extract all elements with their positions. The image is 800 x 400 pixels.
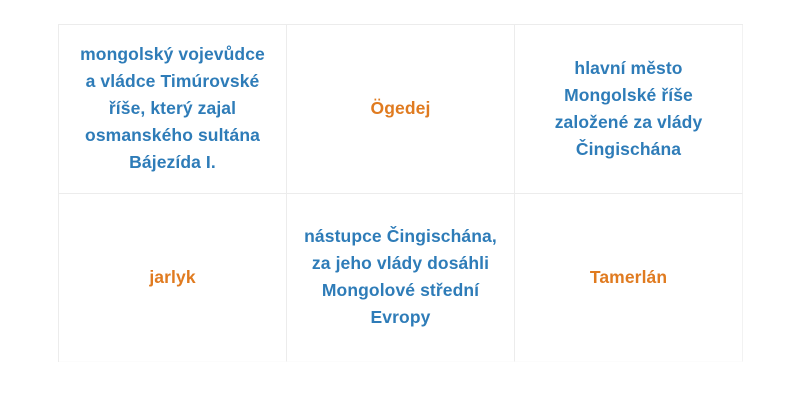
card-text: Ögedej (371, 95, 431, 122)
matching-card[interactable]: mongolský vojevůdce a vládce Timúrovské … (59, 25, 287, 194)
card-text: Tamerlán (590, 264, 667, 291)
matching-card[interactable]: Tamerlán (515, 194, 743, 363)
matching-card[interactable]: nástupce Čingischána, za jeho vlády dosá… (287, 194, 515, 363)
card-text: jarlyk (149, 264, 195, 291)
matching-card[interactable]: jarlyk (59, 194, 287, 363)
card-text: hlavní město Mongolské říše založené za … (529, 55, 728, 163)
matching-card[interactable]: hlavní město Mongolské říše založené za … (515, 25, 743, 194)
card-text: nástupce Čingischána, za jeho vlády dosá… (301, 223, 500, 331)
matching-card-grid: mongolský vojevůdce a vládce Timúrovské … (58, 24, 743, 362)
matching-card[interactable]: Ögedej (287, 25, 515, 194)
card-text: mongolský vojevůdce a vládce Timúrovské … (73, 41, 272, 176)
